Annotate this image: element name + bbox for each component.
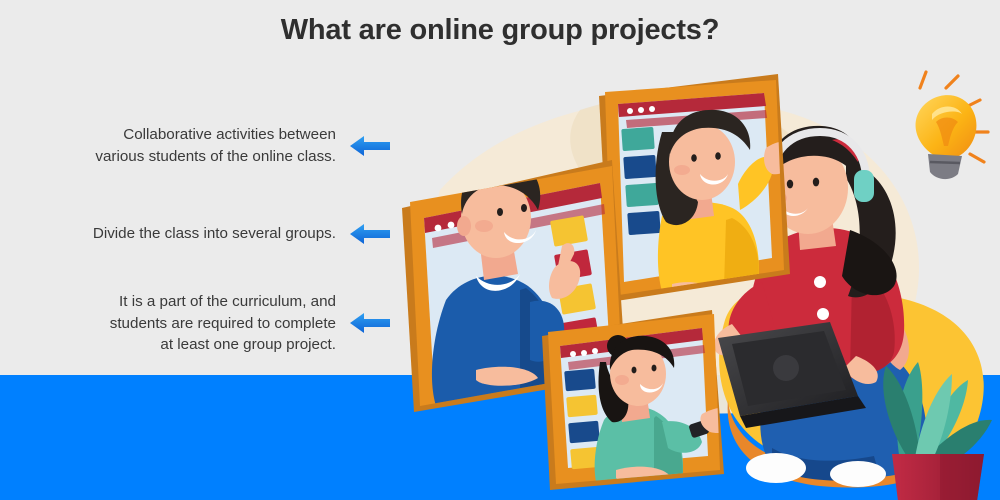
- bullet-point-3-label: It is a part of the curriculum, and stud…: [110, 291, 336, 356]
- lightbulb-icon: [916, 72, 988, 179]
- bullet-point-3: It is a part of the curriculum, and stud…: [0, 291, 390, 356]
- bullet-point-2: Divide the class into several groups.: [0, 221, 390, 247]
- page-title: What are online group projects?: [0, 14, 1000, 47]
- illustration: [380, 70, 1000, 500]
- bullet-point-2-label: Divide the class into several groups.: [93, 223, 336, 245]
- window-top-right[interactable]: [599, 74, 796, 302]
- bullet-point-1-label: Collaborative activities between various…: [95, 124, 336, 167]
- bullet-point-1: Collaborative activities between various…: [0, 124, 390, 167]
- infographic-root: What are online group projects? Collabor…: [0, 0, 1000, 500]
